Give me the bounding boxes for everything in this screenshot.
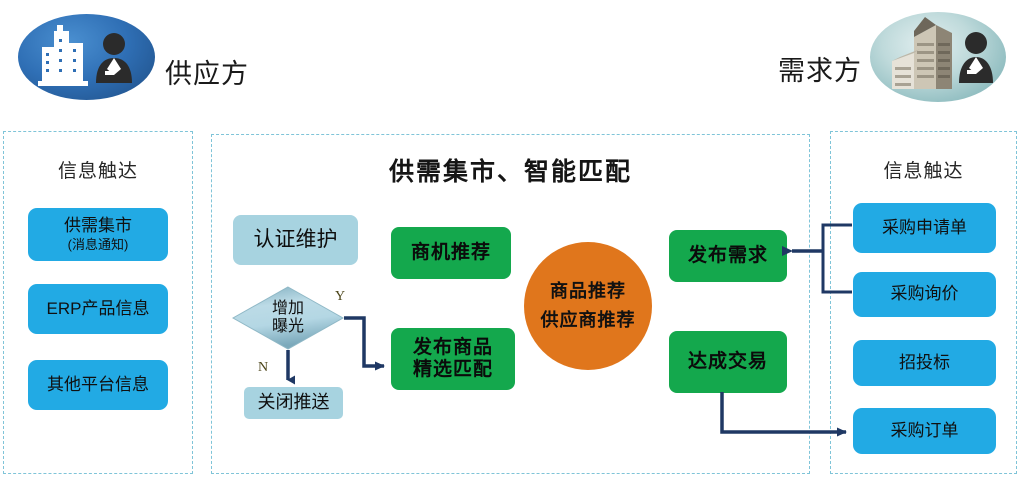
diagram-canvas: 供应方 需求方 bbox=[0, 0, 1020, 485]
supply-node-market-sublabel: (消息通知) bbox=[68, 237, 129, 252]
node-auth-maintenance[interactable]: 认证维护 bbox=[233, 215, 358, 265]
demand-node-purchase-inquiry-label: 采购询价 bbox=[891, 284, 959, 304]
hub-label-line2: 供应商推荐 bbox=[541, 306, 636, 335]
demand-panel-title: 信息触达 bbox=[831, 156, 1016, 183]
factory-person-icon bbox=[28, 23, 146, 91]
demand-node-bidding-label: 招投标 bbox=[899, 353, 950, 373]
node-recommendation-hub[interactable]: 商品推荐 供应商推荐 bbox=[524, 242, 652, 370]
decision-text: 增加 曝光 bbox=[232, 286, 344, 350]
node-publish-product-label-line1: 发布商品 bbox=[413, 337, 493, 359]
demand-node-purchase-request-label: 采购申请单 bbox=[882, 218, 967, 238]
supply-node-market-label: 供需集市 bbox=[64, 216, 132, 236]
node-publish-product[interactable]: 发布商品 精选匹配 bbox=[391, 328, 515, 390]
node-business-recommendation-label: 商机推荐 bbox=[411, 242, 491, 264]
supplier-badge: 供应方 bbox=[18, 14, 249, 100]
supply-node-market[interactable]: 供需集市 (消息通知) bbox=[28, 208, 168, 261]
node-close-push[interactable]: 关闭推送 bbox=[244, 387, 343, 419]
demand-node-bidding[interactable]: 招投标 bbox=[853, 340, 996, 386]
demander-badge-label: 需求方 bbox=[778, 49, 862, 88]
node-auth-maintenance-label: 认证维护 bbox=[254, 228, 338, 253]
decision-line1: 增加 bbox=[272, 300, 304, 318]
node-deal-done[interactable]: 达成交易 bbox=[669, 331, 787, 393]
supplier-badge-label: 供应方 bbox=[165, 52, 249, 91]
node-increase-exposure-decision[interactable]: 增加 曝光 bbox=[232, 286, 344, 350]
node-deal-done-label: 达成交易 bbox=[688, 351, 768, 373]
demander-badge-ellipse bbox=[870, 12, 1006, 102]
demander-badge: 需求方 bbox=[778, 12, 1006, 102]
node-business-recommendation[interactable]: 商机推荐 bbox=[391, 227, 511, 279]
node-publish-demand[interactable]: 发布需求 bbox=[669, 230, 787, 282]
supply-panel-title: 信息触达 bbox=[4, 156, 192, 183]
demand-information-panel: 信息触达 采购申请单 采购询价 招投标 采购订单 bbox=[830, 131, 1017, 474]
hub-label-line1: 商品推荐 bbox=[550, 277, 626, 306]
supply-node-other-platform[interactable]: 其他平台信息 bbox=[28, 360, 168, 410]
supply-information-panel: 信息触达 供需集市 (消息通知) ERP产品信息 其他平台信息 bbox=[3, 131, 193, 474]
center-panel-title: 供需集市、智能匹配 bbox=[212, 152, 809, 188]
decision-line2: 曝光 bbox=[272, 318, 304, 336]
demand-node-purchase-inquiry[interactable]: 采购询价 bbox=[853, 272, 996, 317]
supply-node-erp[interactable]: ERP产品信息 bbox=[28, 284, 168, 334]
supplier-badge-ellipse bbox=[18, 14, 155, 100]
edge-label-yes: Y bbox=[335, 289, 345, 305]
supply-node-erp-label: ERP产品信息 bbox=[47, 299, 150, 319]
node-close-push-label: 关闭推送 bbox=[258, 392, 330, 413]
office-person-icon bbox=[878, 17, 998, 97]
demand-node-purchase-order-label: 采购订单 bbox=[891, 421, 959, 441]
edge-label-no: N bbox=[258, 360, 268, 376]
demand-node-purchase-order[interactable]: 采购订单 bbox=[853, 408, 996, 454]
node-publish-product-label-line2: 精选匹配 bbox=[413, 359, 493, 381]
demand-node-purchase-request[interactable]: 采购申请单 bbox=[853, 203, 996, 253]
node-publish-demand-label: 发布需求 bbox=[688, 245, 768, 267]
supply-node-other-platform-label: 其他平台信息 bbox=[47, 375, 149, 395]
